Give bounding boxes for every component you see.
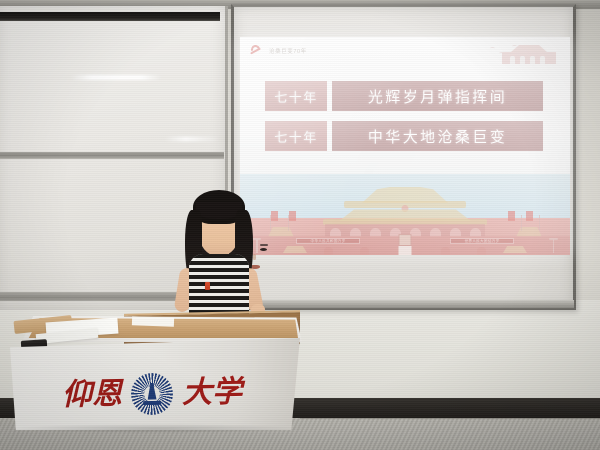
whiteboard-right-tray xyxy=(233,300,574,308)
slide-header: 沧桑巨变70年 xyxy=(249,44,307,57)
podium-crest: 仰恩 大学 xyxy=(22,366,283,423)
tiananmen-gate-illustration: 中华人民共和国万岁 世界人民大团结万岁 xyxy=(240,168,570,255)
light-glare-secondary xyxy=(164,137,218,141)
slide-row-phrase: 中华大地沧桑巨变 xyxy=(332,121,543,151)
floor-seam xyxy=(300,418,600,419)
flag-icon xyxy=(508,211,515,221)
whiteboard-left-middle-rail xyxy=(0,152,224,159)
slide-row-phrase: 光辉岁月弹指挥间 xyxy=(332,81,543,111)
slide-row-year: 七十年 xyxy=(265,81,327,111)
gate-banner-left: 中华人民共和国万岁 xyxy=(296,238,360,244)
flag-icon xyxy=(289,211,296,221)
slide-row-year: 七十年 xyxy=(265,121,327,151)
nose xyxy=(253,254,256,260)
cpc-party-emblem-icon xyxy=(249,44,263,57)
whiteboard-left-top-trim xyxy=(0,12,220,21)
yangen-university-sunburst-logo-icon xyxy=(131,373,174,416)
eye-right xyxy=(260,248,267,251)
light-glare xyxy=(70,75,162,80)
corner-gate-decoration-icon xyxy=(490,43,566,67)
projected-slide: 沧桑巨变70年 七十年 光辉岁月弹指挥间 七十年 中华大地沧桑巨变 xyxy=(240,37,570,255)
podium-shadow xyxy=(12,424,300,433)
slide-title-rows: 七十年 光辉岁月弹指挥间 七十年 中华大地沧桑巨变 xyxy=(265,81,543,161)
presenter xyxy=(163,184,275,324)
crest-text-left: 仰恩 xyxy=(62,380,123,411)
gate-banner-right: 世界人民大团结万岁 xyxy=(450,238,514,244)
slide-header-text: 沧桑巨变70年 xyxy=(269,47,307,55)
slide-title-row: 七十年 中华大地沧桑巨变 xyxy=(265,121,543,151)
classroom-scene: 沧桑巨变70年 七十年 光辉岁月弹指挥间 七十年 中华大地沧桑巨变 xyxy=(0,0,600,450)
papers-tertiary[interactable] xyxy=(132,316,174,326)
crest-text-right: 大学 xyxy=(182,377,243,408)
flag-icon xyxy=(526,211,533,221)
slide-title-row: 七十年 光辉岁月弹指挥间 xyxy=(265,81,543,111)
gate-portrait xyxy=(399,234,412,246)
lapel-badge xyxy=(205,282,210,290)
